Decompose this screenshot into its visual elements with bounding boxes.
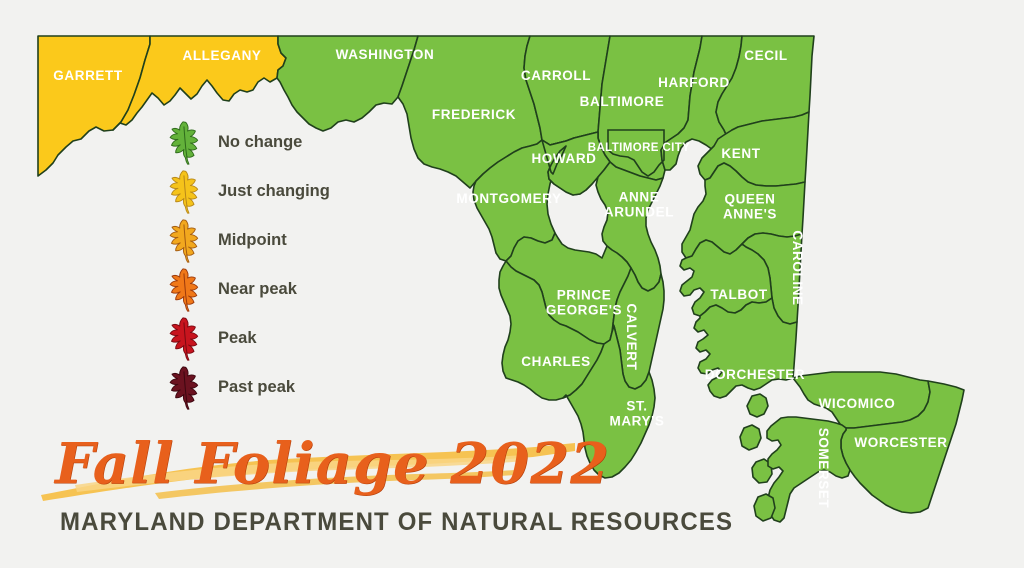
- oak-leaf-icon: [160, 316, 206, 362]
- county-shape-dorchester-island-b[interactable]: [740, 425, 761, 450]
- title-block: Fall Foliage 2022 MARYLAND DEPARTMENT OF…: [55, 425, 575, 540]
- county-label-frederick: FREDERICK: [432, 107, 516, 122]
- oak-leaf-icon: [160, 267, 206, 313]
- page-title: Fall Foliage 2022: [55, 425, 575, 503]
- legend-label: Just changing: [218, 182, 330, 201]
- fall-foliage-map-page: GARRETTALLEGANYWASHINGTONFREDERICKCARROL…: [0, 0, 1024, 568]
- legend-label: Midpoint: [218, 231, 287, 250]
- county-label-montgomery: MONTGOMERY: [456, 191, 561, 206]
- county-label-worcester: WORCESTER: [854, 435, 947, 450]
- legend-row-no-change[interactable]: No change: [160, 118, 350, 167]
- legend-row-just-changing[interactable]: Just changing: [160, 167, 350, 216]
- county-label-baltimore: BALTIMORE: [580, 94, 665, 109]
- county-shape-smith-island[interactable]: [754, 494, 775, 521]
- county-label-garrett: GARRETT: [53, 68, 123, 83]
- county-label-charles: CHARLES: [521, 354, 590, 369]
- county-shape-dorchester-island-a[interactable]: [747, 394, 768, 417]
- legend-row-peak[interactable]: Peak: [160, 314, 350, 363]
- county-label-prince-george-s: PRINCEGEORGE'S: [546, 287, 622, 317]
- county-label-allegany: ALLEGANY: [182, 48, 261, 63]
- county-label-cecil: CECIL: [744, 48, 788, 63]
- oak-leaf-icon: [160, 218, 206, 264]
- legend-row-past-peak[interactable]: Past peak: [160, 363, 350, 412]
- county-label-kent: KENT: [721, 146, 760, 161]
- county-label-baltimore-city: BALTIMORE CITY: [588, 142, 691, 154]
- county-label-calvert: CALVERT: [624, 304, 639, 371]
- county-shape-somerset[interactable]: [767, 417, 850, 522]
- county-label-talbot: TALBOT: [710, 287, 767, 302]
- county-label-washington: WASHINGTON: [336, 47, 435, 62]
- county-label-carroll: CARROLL: [521, 68, 591, 83]
- oak-leaf-icon: [160, 169, 206, 215]
- legend-label: No change: [218, 133, 302, 152]
- county-label-caroline: CAROLINE: [790, 230, 805, 305]
- legend-row-midpoint[interactable]: Midpoint: [160, 216, 350, 265]
- county-label-harford: HARFORD: [658, 75, 730, 90]
- foliage-legend: No changeJust changingMidpointNear peakP…: [160, 118, 350, 412]
- legend-row-near-peak[interactable]: Near peak: [160, 265, 350, 314]
- oak-leaf-icon: [160, 120, 206, 166]
- county-label-somerset: SOMERSET: [816, 428, 831, 509]
- county-label-queen-anne-s: QUEENANNE'S: [723, 191, 777, 221]
- legend-label: Past peak: [218, 378, 295, 397]
- county-label-dorchester: DORCHESTER: [705, 367, 806, 382]
- oak-leaf-icon: [160, 365, 206, 411]
- county-label-wicomico: WICOMICO: [819, 396, 896, 411]
- county-label-howard: HOWARD: [531, 151, 596, 166]
- legend-label: Near peak: [218, 280, 297, 299]
- legend-label: Peak: [218, 329, 257, 348]
- page-subtitle: MARYLAND DEPARTMENT OF NATURAL RESOURCES: [60, 508, 733, 537]
